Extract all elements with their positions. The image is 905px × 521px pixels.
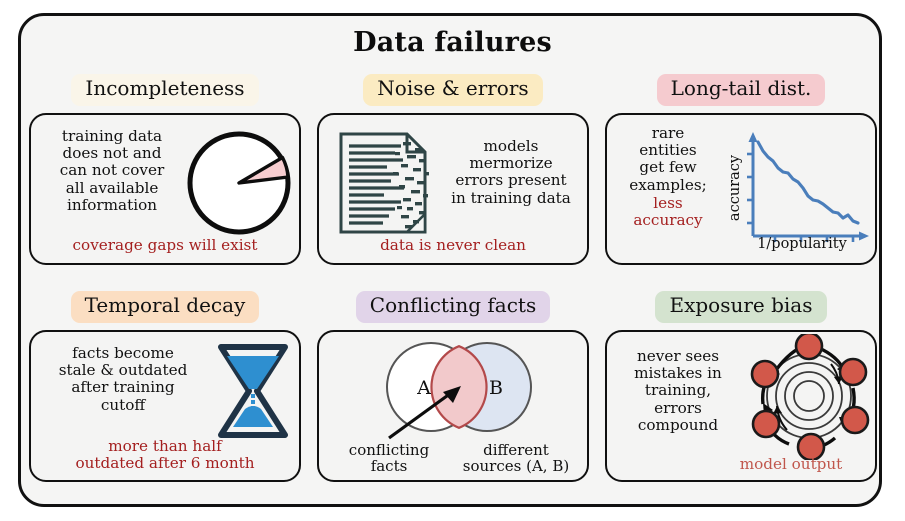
incompleteness-body: training data does not and can not cover… [37,128,187,215]
card-temporal-decay: Temporal decay facts become stale & outd… [29,291,301,482]
noise-errors-highlight: data is never clean [319,237,587,254]
long-tail-body: rare entities get few examples; [609,125,727,194]
card-body-temporal-decay: facts become stale & outdated after trai… [29,330,301,482]
card-body-noise-errors: models mermorize errors present in train… [317,113,589,265]
conflicting-facts-annotation-right: different sources (A, B) [445,442,587,475]
pill-exposure-bias: Exposure bias [655,291,826,323]
card-body-long-tail: rare entities get few examples; less acc… [605,113,877,265]
pill-conflicting-facts: Conflicting facts [356,291,550,323]
disintegrating-document-icon [329,128,441,244]
pill-temporal-decay: Temporal decay [71,291,260,323]
pill-incompleteness: Incompleteness [71,74,258,106]
card-body-exposure-bias: never sees mistakes in training, errors … [605,330,877,482]
exposure-bias-body: never sees mistakes in training, errors … [609,348,747,435]
card-conflicting-facts: Conflicting facts A B [317,291,589,482]
noise-errors-body: models mermorize errors present in train… [437,138,585,207]
long-tail-xlabel: 1/popularity [735,237,869,253]
card-long-tail: Long-tail dist. rare entities get few ex… [605,74,877,265]
card-exposure-bias: Exposure bias never sees mistakes in tra… [605,291,877,482]
temporal-decay-body: facts become stale & outdated after trai… [37,345,209,414]
feedback-loop-icon [743,334,875,464]
pill-long-tail: Long-tail dist. [657,74,826,106]
card-body-incompleteness: training data does not and can not cover… [29,113,301,265]
pie-chart-icon [183,127,295,243]
diagram-root: Data failures Incompleteness training da… [0,0,905,521]
incompleteness-highlight: coverage gaps will exist [31,237,299,254]
conflicting-facts-annotation-left: conflicting facts [325,442,453,475]
hourglass-icon [207,339,299,447]
svg-text:B: B [489,377,503,399]
svg-text:accuracy: accuracy [727,154,743,221]
exposure-bias-highlight: model output [707,456,875,473]
card-body-conflicting-facts: A B conflicting facts different sources … [317,330,589,482]
page-title: Data failures [0,27,905,58]
card-incompleteness: Incompleteness training data does not an… [29,74,301,265]
long-tail-highlight: less accuracy [609,195,727,230]
venn-arrow-icon [379,380,489,448]
card-noise-errors: Noise & errors [317,74,589,265]
pill-noise-errors: Noise & errors [363,74,542,106]
temporal-decay-highlight: more than half outdated after 6 month [31,438,299,473]
